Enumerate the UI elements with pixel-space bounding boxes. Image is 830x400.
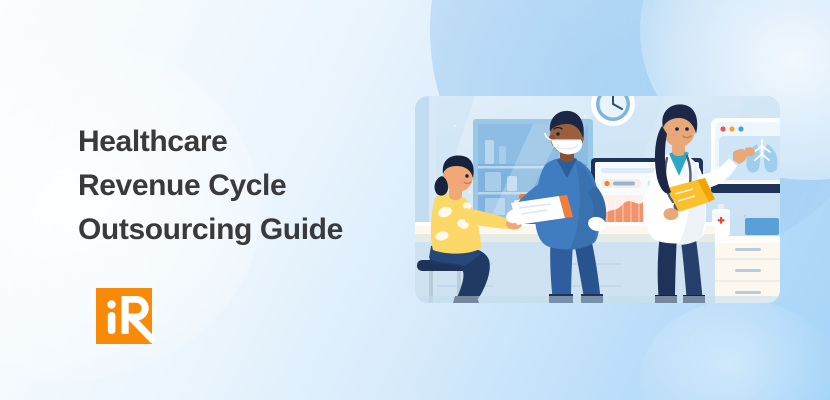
brand-logo[interactable] [96, 288, 156, 348]
hero-banner: Healthcare Revenue Cycle Outsourcing Gui… [0, 0, 830, 400]
page-title-line-3: Outsourcing Guide [78, 208, 408, 252]
page-title-line-2: Revenue Cycle [78, 164, 408, 208]
ir-logo-icon [96, 288, 156, 348]
decorative-glow-bottom-right [640, 300, 830, 400]
page-title-line-1: Healthcare [78, 120, 408, 164]
clinic-scene-illustration [415, 96, 780, 303]
hero-illustration [415, 96, 780, 303]
page-title: Healthcare Revenue Cycle Outsourcing Gui… [78, 120, 408, 252]
